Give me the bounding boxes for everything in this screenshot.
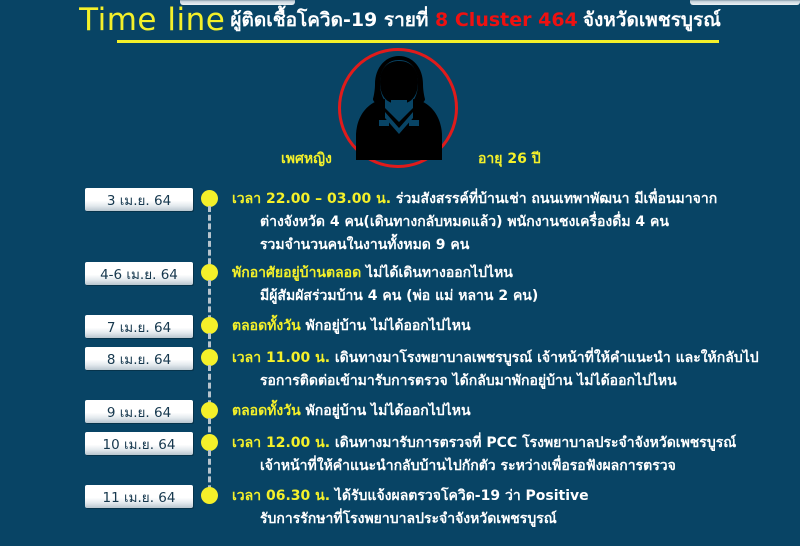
timeline-dot-cell — [201, 432, 229, 455]
timeline-entry-line: รอการติดต่อเข้ามารับการตรวจ ได้กลับมาพัก… — [232, 371, 800, 392]
timeline-entry-line: ตลอดทั้งวัน พักอยู่บ้าน ไม่ได้ออกไปไหน — [232, 401, 800, 422]
timeline-entry-body: เวลา 22.00 – 03.00 น. ร่วมสังสรรค์ที่บ้า… — [229, 188, 800, 258]
timeline-entry-body: เวลา 11.00 น. เดินทางมาโรงพยาบาลเพชรบูรณ… — [229, 347, 800, 394]
timeline-date-chip: 9 เม.ย. 64 — [85, 400, 193, 423]
timeline-entry-line: พักอาศัยอยู่บ้านตลอด ไม่ได้เดินทางออกไปไ… — [232, 263, 800, 284]
timeline-time-highlight: เวลา 06.30 น. — [232, 488, 330, 504]
timeline-entry-line: เวลา 12.00 น. เดินทางมารับการตรวจที่ PCC… — [232, 433, 800, 454]
timeline-line-text: พักอยู่บ้าน ไม่ได้ออกไปไหน — [301, 403, 471, 419]
timeline-entry: 9 เม.ย. 64ตลอดทั้งวัน พักอยู่บ้าน ไม่ได้… — [0, 400, 800, 424]
timeline-entry-line: เวลา 11.00 น. เดินทางมาโรงพยาบาลเพชรบูรณ… — [232, 348, 800, 369]
timeline-line-text: ต่างจังหวัด 4 คน(เดินทางกลับหมดแล้ว) พนั… — [260, 214, 669, 230]
timeline-time-highlight: พักอาศัยอยู่บ้านตลอด — [232, 265, 361, 281]
timeline-line-text: ร่วมสังสรรค์ที่บ้านเช่า ถนนเทพาพัฒนา มีเ… — [391, 191, 717, 207]
timeline-line-text: มีผู้สัมผัสร่วมบ้าน 4 คน (พ่อ แม่ หลาน 2… — [260, 288, 538, 304]
timeline-dot-cell — [201, 315, 229, 338]
profile-section: เพศหญิง อายุ 26 ปี — [0, 48, 800, 160]
timeline-date-chip: 7 เม.ย. 64 — [85, 315, 193, 338]
title-row: Time line ผู้ติดเชื้อโควิด-19 รายที่ 8 C… — [79, 2, 721, 38]
timeline-line-text: รวมจำนวนคนในงานทั้งหมด 9 คน — [260, 237, 469, 253]
timeline-dot-cell — [201, 485, 229, 508]
page-title: Time line — [79, 2, 225, 38]
timeline-dot-icon — [201, 349, 218, 366]
sex-label: เพศหญิง — [281, 148, 332, 170]
timeline-dot-icon — [201, 434, 218, 451]
timeline-entry: 11 เม.ย. 64เวลา 06.30 น. ได้รับแจ้งผลตรว… — [0, 485, 800, 532]
timeline-entry-line: มีผู้สัมผัสร่วมบ้าน 4 คน (พ่อ แม่ หลาน 2… — [232, 286, 800, 307]
timeline-line-text: เดินทางมาโรงพยาบาลเพชรบูรณ์ เจ้าหน้าที่ใ… — [330, 350, 759, 366]
timeline-entry-line: ตลอดทั้งวัน พักอยู่บ้าน ไม่ได้ออกไปไหน — [232, 316, 800, 337]
timeline-entry-body: พักอาศัยอยู่บ้านตลอด ไม่ได้เดินทางออกไปไ… — [229, 262, 800, 309]
province-text: จังหวัดเพชรบูรณ์ — [583, 9, 721, 31]
timeline-entry-body: ตลอดทั้งวัน พักอยู่บ้าน ไม่ได้ออกไปไหน — [229, 400, 800, 424]
timeline: 3 เม.ย. 64เวลา 22.00 – 03.00 น. ร่วมสังส… — [0, 188, 800, 538]
timeline-line-text: รับการรักษาที่โรงพยาบาลประจำจังหวัดเพชรบ… — [260, 511, 557, 527]
case-number: 8 Cluster 464 — [435, 9, 578, 31]
title-underline — [117, 40, 719, 43]
timeline-dot-icon — [201, 190, 218, 207]
timeline-line-text: ไม่ได้เดินทางออกไปไหน — [361, 265, 513, 281]
timeline-dot-cell — [201, 188, 229, 211]
timeline-date-chip: 4-6 เม.ย. 64 — [85, 262, 193, 285]
timeline-date-cell: 9 เม.ย. 64 — [85, 400, 201, 423]
timeline-time-highlight: ตลอดทั้งวัน — [232, 403, 301, 419]
page-header: Time line ผู้ติดเชื้อโควิด-19 รายที่ 8 C… — [0, 2, 800, 38]
timeline-date-label: 4-6 เม.ย. 64 — [100, 263, 178, 285]
age-label: อายุ 26 ปี — [478, 148, 541, 170]
timeline-dot-icon — [201, 487, 218, 504]
timeline-line-text: พักอยู่บ้าน ไม่ได้ออกไปไหน — [301, 318, 471, 334]
timeline-entry-line: รับการรักษาที่โรงพยาบาลประจำจังหวัดเพชรบ… — [232, 509, 800, 530]
timeline-date-label: 9 เม.ย. 64 — [107, 401, 171, 423]
timeline-date-label: 8 เม.ย. 64 — [107, 348, 171, 370]
timeline-date-chip: 11 เม.ย. 64 — [85, 485, 193, 508]
timeline-entry-body: เวลา 06.30 น. ได้รับแจ้งผลตรวจโควิด-19 ว… — [229, 485, 800, 532]
timeline-dot-icon — [201, 264, 218, 281]
subject-text: ผู้ติดเชื้อโควิด-19 รายที่ — [230, 9, 435, 31]
timeline-entry-line: เจ้าหน้าที่ให้คำแนะนำกลับบ้านไปกักตัว ระ… — [232, 456, 800, 477]
timeline-line-text: ได้รับแจ้งผลตรวจโควิด-19 ว่า Positive — [330, 488, 589, 504]
timeline-entry-line: เวลา 06.30 น. ได้รับแจ้งผลตรวจโควิด-19 ว… — [232, 486, 800, 507]
timeline-time-highlight: เวลา 11.00 น. — [232, 350, 330, 366]
person-silhouette-icon — [355, 56, 443, 160]
timeline-dot-icon — [201, 317, 218, 334]
timeline-line-text: รอการติดต่อเข้ามารับการตรวจ ได้กลับมาพัก… — [260, 373, 677, 389]
timeline-date-label: 7 เม.ย. 64 — [107, 316, 171, 338]
timeline-line-text: เดินทางมารับการตรวจที่ PCC โรงพยาบาลประจ… — [330, 435, 736, 451]
timeline-date-cell: 11 เม.ย. 64 — [85, 485, 201, 508]
timeline-date-label: 11 เม.ย. 64 — [103, 486, 176, 508]
timeline-dot-cell — [201, 400, 229, 423]
timeline-date-chip: 3 เม.ย. 64 — [85, 188, 193, 211]
timeline-entry: 10 เม.ย. 64เวลา 12.00 น. เดินทางมารับการ… — [0, 432, 800, 479]
timeline-entry-body: เวลา 12.00 น. เดินทางมารับการตรวจที่ PCC… — [229, 432, 800, 479]
timeline-entry: 3 เม.ย. 64เวลา 22.00 – 03.00 น. ร่วมสังส… — [0, 188, 800, 258]
timeline-time-highlight: เวลา 12.00 น. — [232, 435, 330, 451]
timeline-time-highlight: เวลา 22.00 – 03.00 น. — [232, 191, 391, 207]
timeline-date-cell: 4-6 เม.ย. 64 — [85, 262, 201, 285]
timeline-line-text: เจ้าหน้าที่ให้คำแนะนำกลับบ้านไปกักตัว ระ… — [260, 458, 676, 474]
timeline-date-label: 10 เม.ย. 64 — [103, 433, 176, 455]
timeline-date-cell: 3 เม.ย. 64 — [85, 188, 201, 211]
timeline-entry-line: เวลา 22.00 – 03.00 น. ร่วมสังสรรค์ที่บ้า… — [232, 189, 800, 210]
timeline-dot-cell — [201, 262, 229, 285]
timeline-entry: 7 เม.ย. 64ตลอดทั้งวัน พักอยู่บ้าน ไม่ได้… — [0, 315, 800, 339]
timeline-entry: 8 เม.ย. 64เวลา 11.00 น. เดินทางมาโรงพยาบ… — [0, 347, 800, 394]
timeline-dot-icon — [201, 402, 218, 419]
timeline-date-label: 3 เม.ย. 64 — [107, 189, 171, 211]
timeline-dot-cell — [201, 347, 229, 370]
timeline-date-chip: 8 เม.ย. 64 — [85, 347, 193, 370]
timeline-entry-line: รวมจำนวนคนในงานทั้งหมด 9 คน — [232, 235, 800, 256]
timeline-date-chip: 10 เม.ย. 64 — [85, 432, 193, 455]
timeline-entry-line: ต่างจังหวัด 4 คน(เดินทางกลับหมดแล้ว) พนั… — [232, 212, 800, 233]
timeline-date-cell: 10 เม.ย. 64 — [85, 432, 201, 455]
timeline-date-cell: 8 เม.ย. 64 — [85, 347, 201, 370]
timeline-entry: 4-6 เม.ย. 64พักอาศัยอยู่บ้านตลอด ไม่ได้เ… — [0, 262, 800, 309]
timeline-time-highlight: ตลอดทั้งวัน — [232, 318, 301, 334]
timeline-entry-body: ตลอดทั้งวัน พักอยู่บ้าน ไม่ได้ออกไปไหน — [229, 315, 800, 339]
timeline-date-cell: 7 เม.ย. 64 — [85, 315, 201, 338]
